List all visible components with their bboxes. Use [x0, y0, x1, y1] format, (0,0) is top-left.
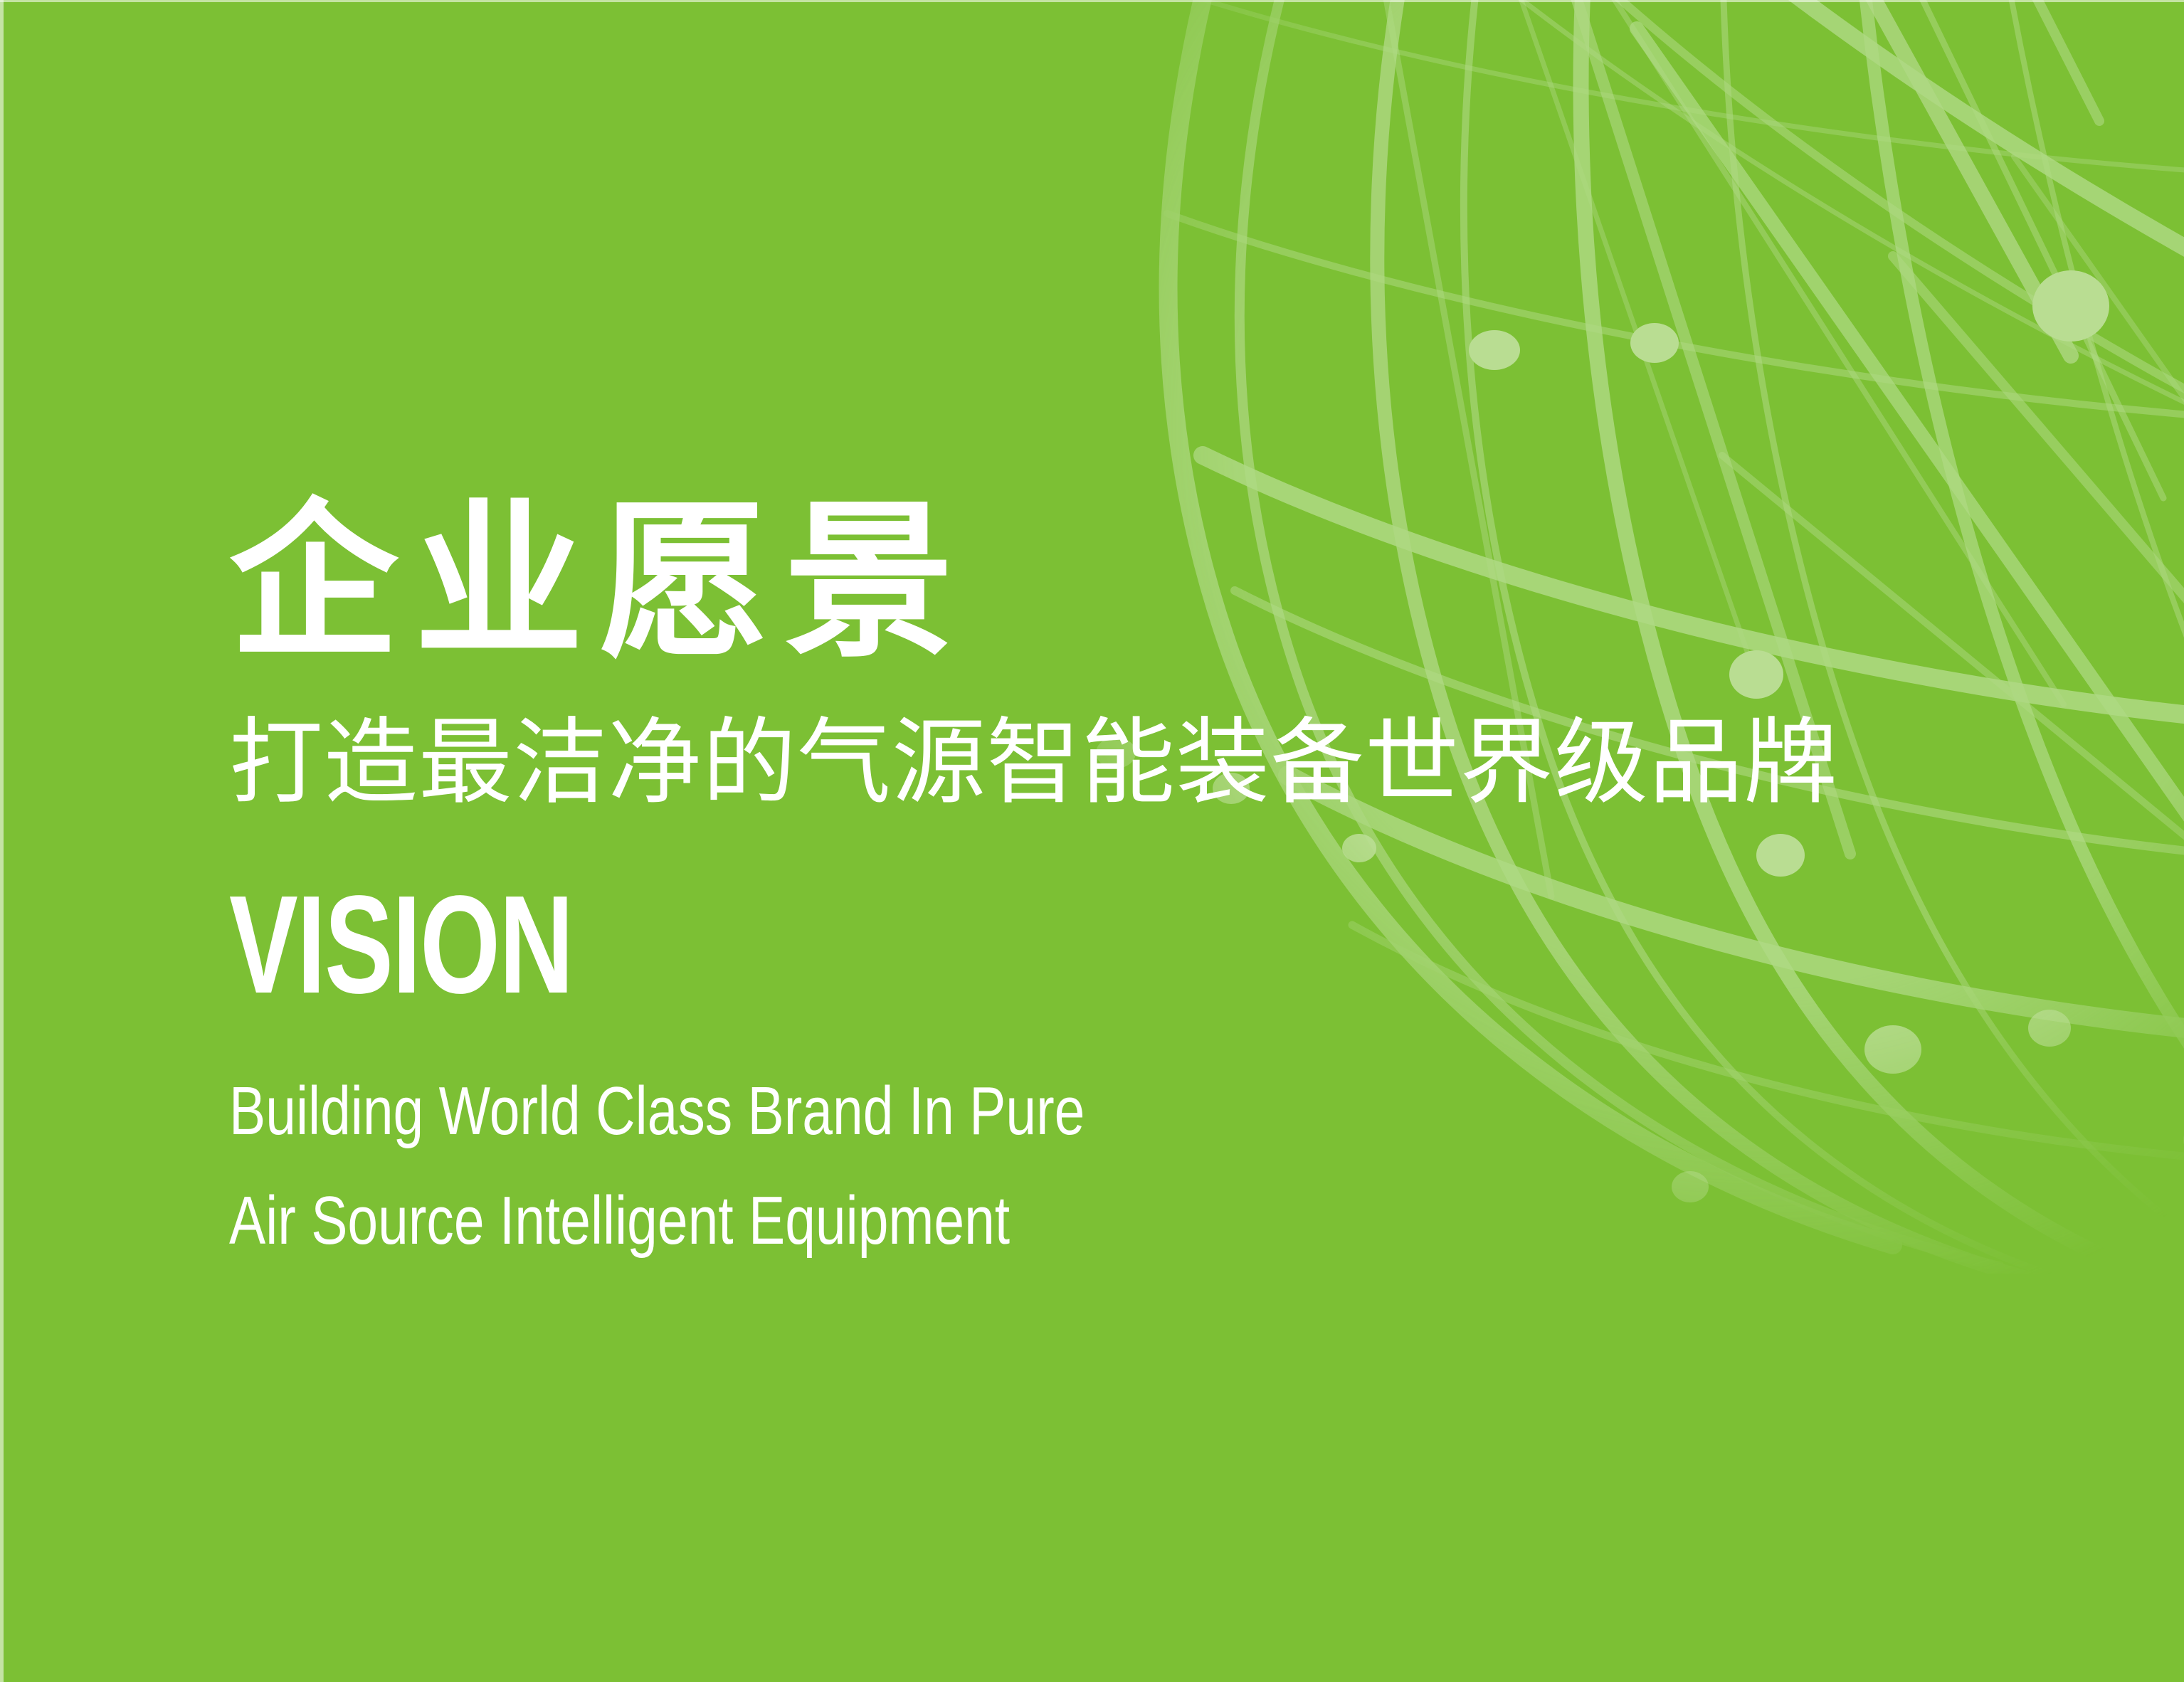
globe-node [1630, 323, 1679, 363]
page-body-line-1: Building World Class Brand In Pure [229, 1077, 1516, 1146]
page-subtitle-cn: 打造最洁净的气源智能装备世界级品牌 [229, 716, 1838, 810]
globe-node [2032, 270, 2109, 342]
top-edge-accent [0, 0, 2184, 2]
page-body-line-2: Air Source Intelligent Equipment [229, 1187, 1516, 1255]
page-title-en: VISION [229, 875, 1420, 1015]
page-title-cn: 企业愿景 [229, 498, 1838, 667]
vision-text-block: 企业愿景 打造最洁净的气源智能装备世界级品牌 VISION Building W… [229, 498, 1838, 1255]
globe-node [1469, 330, 1520, 370]
vision-slide: 企业愿景 打造最洁净的气源智能装备世界级品牌 VISION Building W… [0, 0, 2184, 1682]
left-edge-accent [0, 0, 4, 1682]
globe-node [1864, 1025, 1921, 1074]
globe-node [2028, 1010, 2071, 1047]
